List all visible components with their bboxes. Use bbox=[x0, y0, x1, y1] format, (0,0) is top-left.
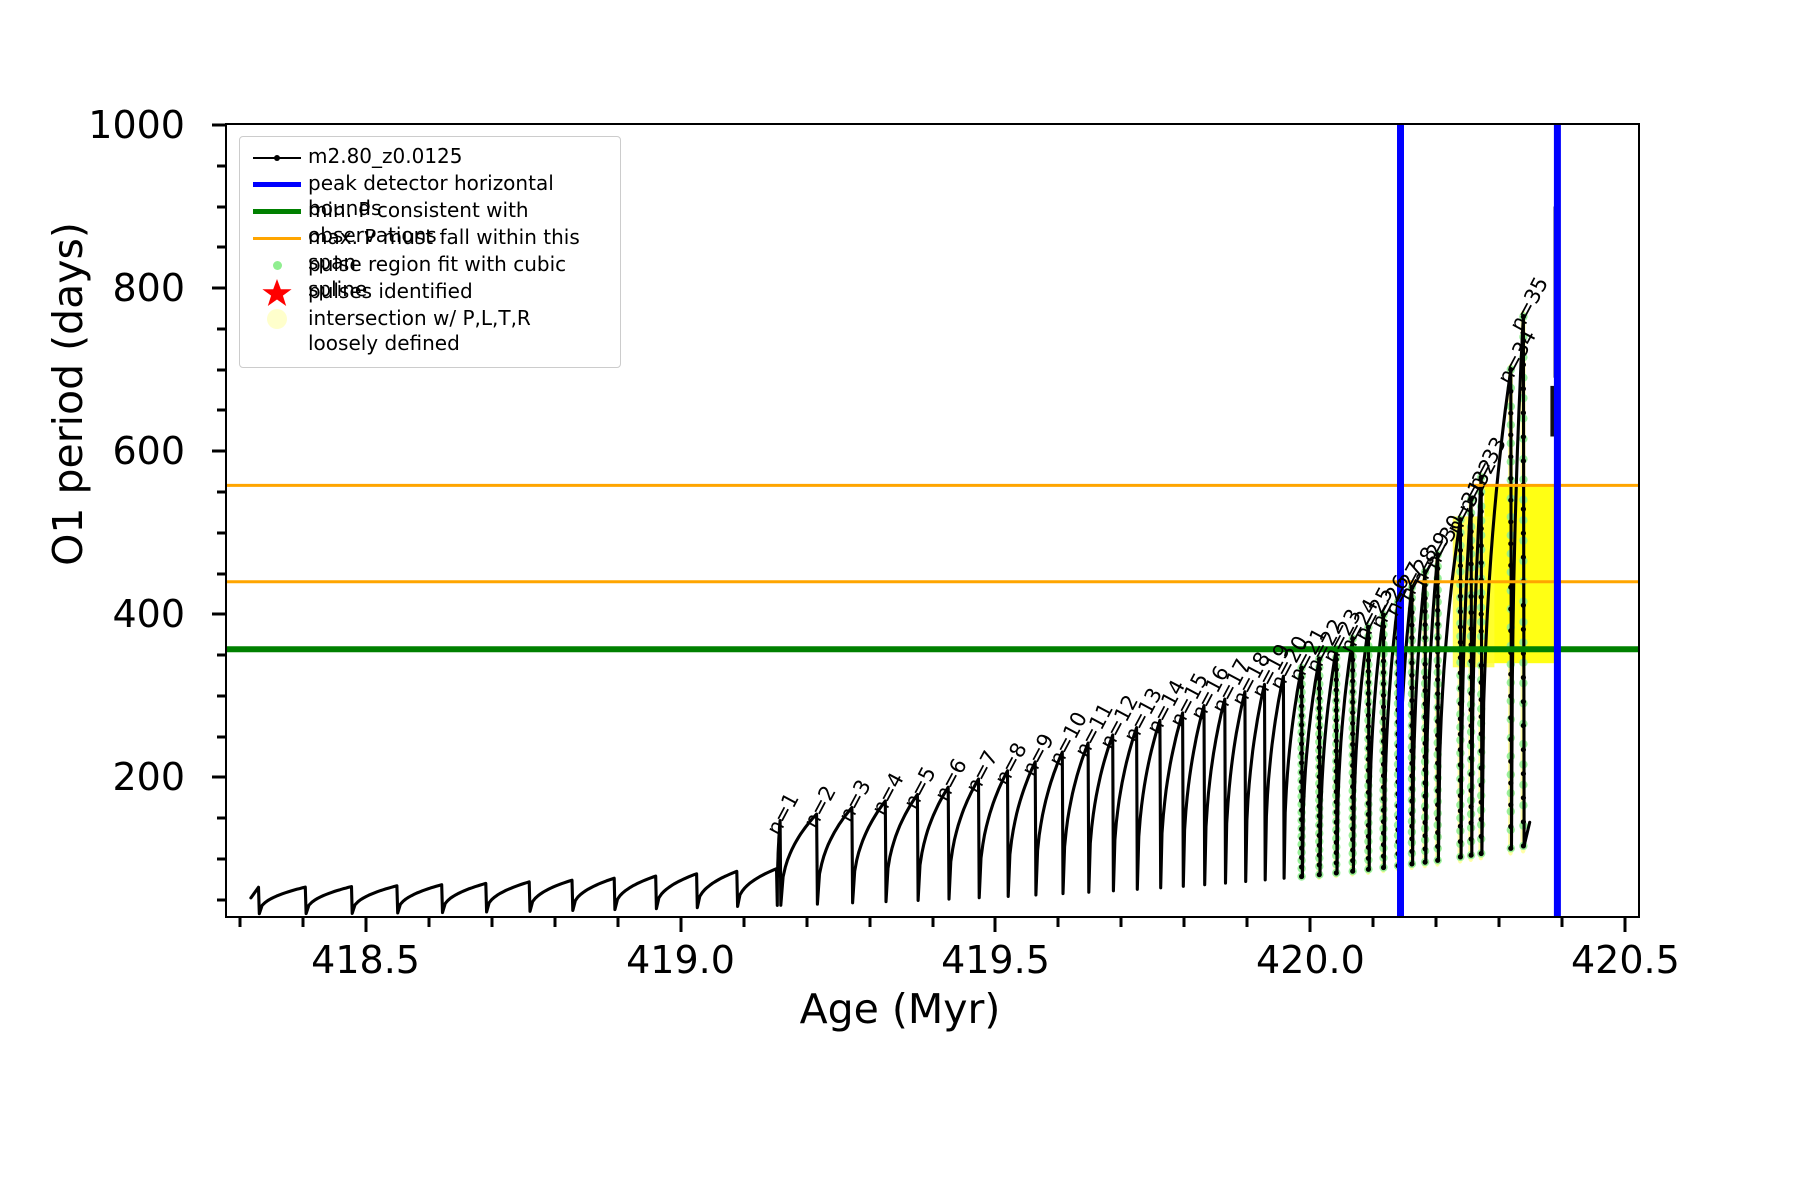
y-tick-minor bbox=[217, 898, 225, 901]
x-tick-minor bbox=[553, 918, 556, 927]
y-tick-major bbox=[212, 776, 225, 779]
x-tick-label: 420.5 bbox=[1505, 938, 1745, 982]
legend-line-icon bbox=[248, 198, 306, 225]
legend-line-icon bbox=[248, 171, 306, 198]
y-tick-major bbox=[212, 287, 225, 290]
y-tick-label: 400 bbox=[0, 592, 185, 636]
x-tick-minor bbox=[238, 918, 241, 927]
y-tick-minor bbox=[217, 694, 225, 697]
x-tick-minor bbox=[490, 918, 493, 927]
legend-item-label: m2.80_z0.0125 bbox=[306, 144, 463, 169]
x-tick-major bbox=[1309, 918, 1312, 932]
y-tick-minor bbox=[217, 246, 225, 249]
y-tick-minor bbox=[217, 857, 225, 860]
y-tick-major bbox=[212, 613, 225, 616]
y-tick-label: 600 bbox=[0, 429, 185, 473]
y-tick-label: 200 bbox=[0, 755, 185, 799]
x-axis-label: Age (Myr) bbox=[0, 985, 1800, 1033]
x-tick-minor bbox=[427, 918, 430, 927]
legend-line-marker-icon bbox=[248, 144, 306, 171]
legend-item-label: pulses identified bbox=[306, 279, 473, 304]
x-tick-minor bbox=[1120, 918, 1123, 927]
y-tick-minor bbox=[217, 817, 225, 820]
y-axis-label: O1 period (days) bbox=[44, 114, 92, 674]
y-tick-label: 800 bbox=[0, 266, 185, 310]
y-tick-minor bbox=[217, 531, 225, 534]
x-tick-major bbox=[994, 918, 997, 932]
pulse-label: n=33 bbox=[1463, 433, 1511, 495]
y-tick-minor bbox=[217, 205, 225, 208]
x-tick-major bbox=[1624, 918, 1627, 932]
y-tick-major bbox=[212, 450, 225, 453]
x-tick-minor bbox=[1057, 918, 1060, 927]
y-tick-minor bbox=[217, 735, 225, 738]
y-tick-minor bbox=[217, 327, 225, 330]
x-tick-minor bbox=[616, 918, 619, 927]
x-tick-major bbox=[679, 918, 682, 932]
x-tick-minor bbox=[1561, 918, 1564, 927]
legend-item: intersection w/ P,L,T,R loosely defined bbox=[248, 306, 612, 358]
x-tick-minor bbox=[805, 918, 808, 927]
legend-dot-icon bbox=[248, 252, 306, 279]
y-tick-minor bbox=[217, 409, 225, 412]
pulse-label: n=2 bbox=[798, 782, 840, 832]
x-tick-minor bbox=[1435, 918, 1438, 927]
y-tick-major bbox=[212, 124, 225, 127]
y-tick-minor bbox=[217, 368, 225, 371]
legend-item: peak detector horizontal bounds bbox=[248, 171, 612, 198]
x-tick-minor bbox=[868, 918, 871, 927]
legend-item: min. P consistent with observations bbox=[248, 198, 612, 225]
legend-line-icon bbox=[248, 225, 306, 252]
legend-item: m2.80_z0.0125 bbox=[248, 144, 612, 171]
pulse-label: n=1 bbox=[762, 788, 804, 838]
x-tick-minor bbox=[301, 918, 304, 927]
x-tick-label: 419.0 bbox=[561, 938, 801, 982]
x-tick-major bbox=[364, 918, 367, 932]
x-tick-minor bbox=[931, 918, 934, 927]
legend: m2.80_z0.0125peak detector horizontal bo… bbox=[239, 136, 621, 368]
x-tick-minor bbox=[1246, 918, 1249, 927]
y-tick-minor bbox=[217, 654, 225, 657]
pulse-label: n=34 bbox=[1493, 325, 1541, 387]
legend-item-label: intersection w/ P,L,T,R loosely defined bbox=[306, 306, 531, 356]
chart-figure: O1 period (days) Age (Myr) 2004006008001… bbox=[0, 0, 1800, 1200]
x-tick-minor bbox=[1183, 918, 1186, 927]
x-tick-minor bbox=[1498, 918, 1501, 927]
x-tick-label: 420.0 bbox=[1190, 938, 1430, 982]
legend-item: max. P must fall within this span bbox=[248, 225, 612, 252]
pulse-label: n=35 bbox=[1505, 272, 1553, 334]
x-tick-label: 419.5 bbox=[875, 938, 1115, 982]
x-tick-label: 418.5 bbox=[246, 938, 486, 982]
y-tick-minor bbox=[217, 164, 225, 167]
plot-area: n=1n=2n=3n=4n=5n=6n=7n=8n=9n=10n=11n=12n… bbox=[225, 123, 1640, 918]
legend-big-dot-icon bbox=[248, 306, 306, 336]
x-tick-minor bbox=[1372, 918, 1375, 927]
y-tick-minor bbox=[217, 490, 225, 493]
legend-item: pulse region fit with cubic spline bbox=[248, 252, 612, 279]
y-tick-label: 1000 bbox=[0, 103, 185, 147]
legend-star-icon bbox=[248, 279, 306, 306]
y-tick-minor bbox=[217, 572, 225, 575]
x-tick-minor bbox=[742, 918, 745, 927]
